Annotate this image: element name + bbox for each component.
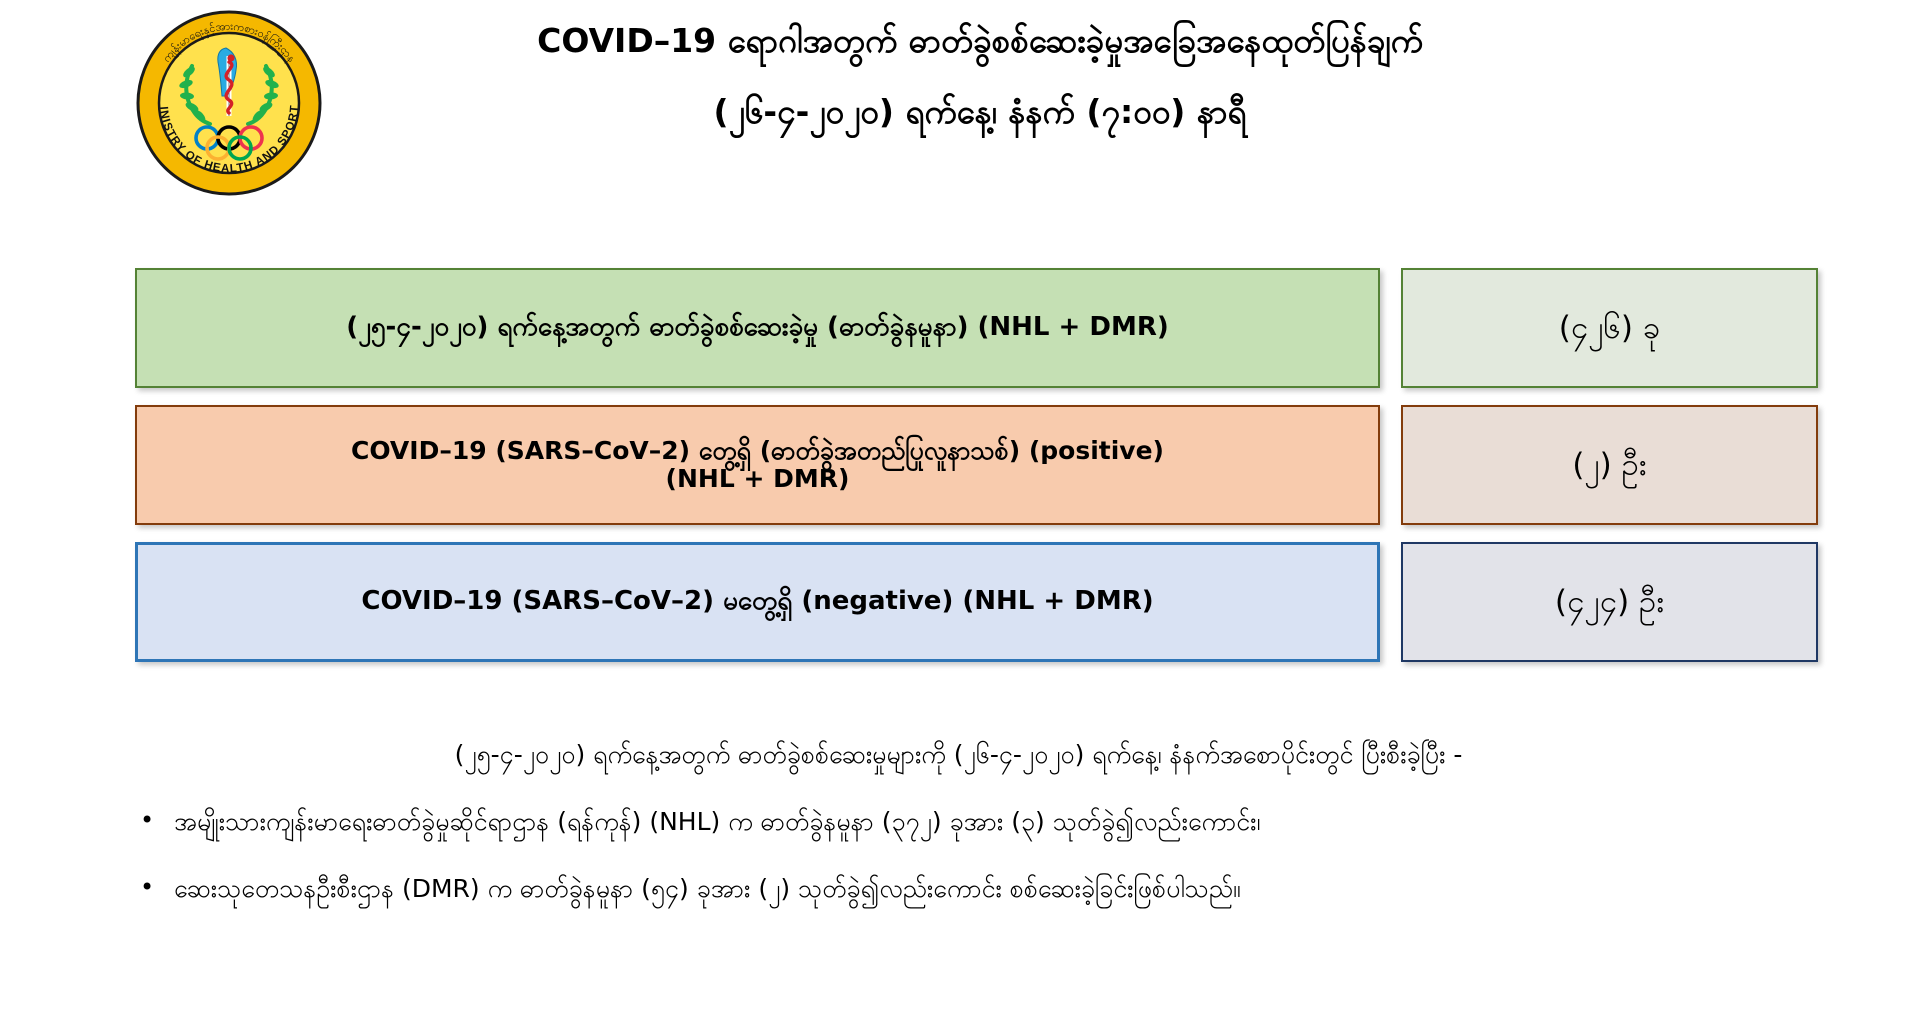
- table-row-total-tested: (၂၅-၄-၂၀၂၀) ရက်နေ့အတွက် ဓာတ်ခွဲစစ်ဆေးခဲ့…: [0, 268, 1917, 405]
- footer-notes: (၂၅-၄-၂၀၂၀) ရက်နေ့အတွက် ဓာတ်ခွဲစစ်ဆေးမှု…: [0, 740, 1917, 905]
- row-value-negative: (၄၂၄) ဦး: [1401, 542, 1818, 662]
- ministry-seal-logo: ကျန်းမာရေးနှင့်အားကစားဝန်ကြီးဌာန MINISTR…: [134, 8, 324, 198]
- row-value-text: (၄၂၄) ဦး: [1541, 585, 1678, 620]
- row-value-positive: (၂) ဦး: [1401, 405, 1818, 525]
- row-label-text: COVID–19 (SARS–CoV–2) တွေ့ရှိ (ဓာတ်ခွဲအတ…: [337, 437, 1178, 493]
- row-label-text: (၂၅-၄-၂၀၂၀) ရက်နေ့အတွက် ဓာတ်ခွဲစစ်ဆေးခဲ့…: [332, 313, 1182, 342]
- note-intro-text: (၂၅-၄-၂၀၂၀) ရက်နေ့အတွက် ဓာတ်ခွဲစစ်ဆေးမှု…: [0, 740, 1917, 770]
- table-row-positive: COVID–19 (SARS–CoV–2) တွေ့ရှိ (ဓာတ်ခွဲအတ…: [0, 405, 1917, 542]
- bullet-marker-icon: •: [140, 873, 174, 902]
- row-value-text: (၂) ဦး: [1558, 448, 1660, 483]
- bullet-marker-icon: •: [140, 806, 174, 835]
- title-line-2: (၂၆-၄-၂၀၂၀) ရက်နေ့၊ နံနက် (၇:၀၀) နာရီ: [390, 95, 1570, 128]
- list-item: • အမျိုးသားကျန်းမာရေးဓာတ်ခွဲမှုဆိုင်ရာဌာ…: [0, 806, 1917, 837]
- ministry-seal-icon: ကျန်းမာရေးနှင့်အားကစားဝန်ကြီးဌာန MINISTR…: [134, 8, 324, 198]
- bullet-text-nhl: အမျိုးသားကျန်းမာရေးဓာတ်ခွဲမှုဆိုင်ရာဌာန …: [174, 806, 1827, 837]
- page-header: ကျန်းမာရေးနှင့်အားကစားဝန်ကြီးဌာန MINISTR…: [0, 0, 1917, 210]
- bullet-text-dmr: ဆေးသုတေသနဦးစီးဌာန (DMR) က ဓာတ်ခွဲနမူနာ (…: [174, 873, 1827, 904]
- row-label-positive: COVID–19 (SARS–CoV–2) တွေ့ရှိ (ဓာတ်ခွဲအတ…: [135, 405, 1380, 525]
- row-label-total-tested: (၂၅-၄-၂၀၂၀) ရက်နေ့အတွက် ဓာတ်ခွဲစစ်ဆေးခဲ့…: [135, 268, 1380, 388]
- row-label-negative: COVID–19 (SARS–CoV–2) မတွေ့ရှိ (negative…: [135, 542, 1380, 662]
- summary-table: (၂၅-၄-၂၀၂၀) ရက်နေ့အတွက် ဓာတ်ခွဲစစ်ဆေးခဲ့…: [0, 268, 1917, 679]
- page-title: COVID–19 ရောဂါအတွက် ဓာတ်ခွဲစစ်ဆေးခဲ့မှုအ…: [390, 24, 1570, 128]
- title-line-1: COVID–19 ရောဂါအတွက် ဓာတ်ခွဲစစ်ဆေးခဲ့မှုအ…: [390, 24, 1570, 57]
- table-row-negative: COVID–19 (SARS–CoV–2) မတွေ့ရှိ (negative…: [0, 542, 1917, 679]
- list-item: • ဆေးသုတေသနဦးစီးဌာန (DMR) က ဓာတ်ခွဲနမူနာ…: [0, 873, 1917, 904]
- row-value-total-tested: (၄၂၆) ခု: [1401, 268, 1818, 388]
- row-value-text: (၄၂၆) ခု: [1545, 311, 1675, 346]
- row-label-text: COVID–19 (SARS–CoV–2) မတွေ့ရှိ (negative…: [347, 587, 1167, 616]
